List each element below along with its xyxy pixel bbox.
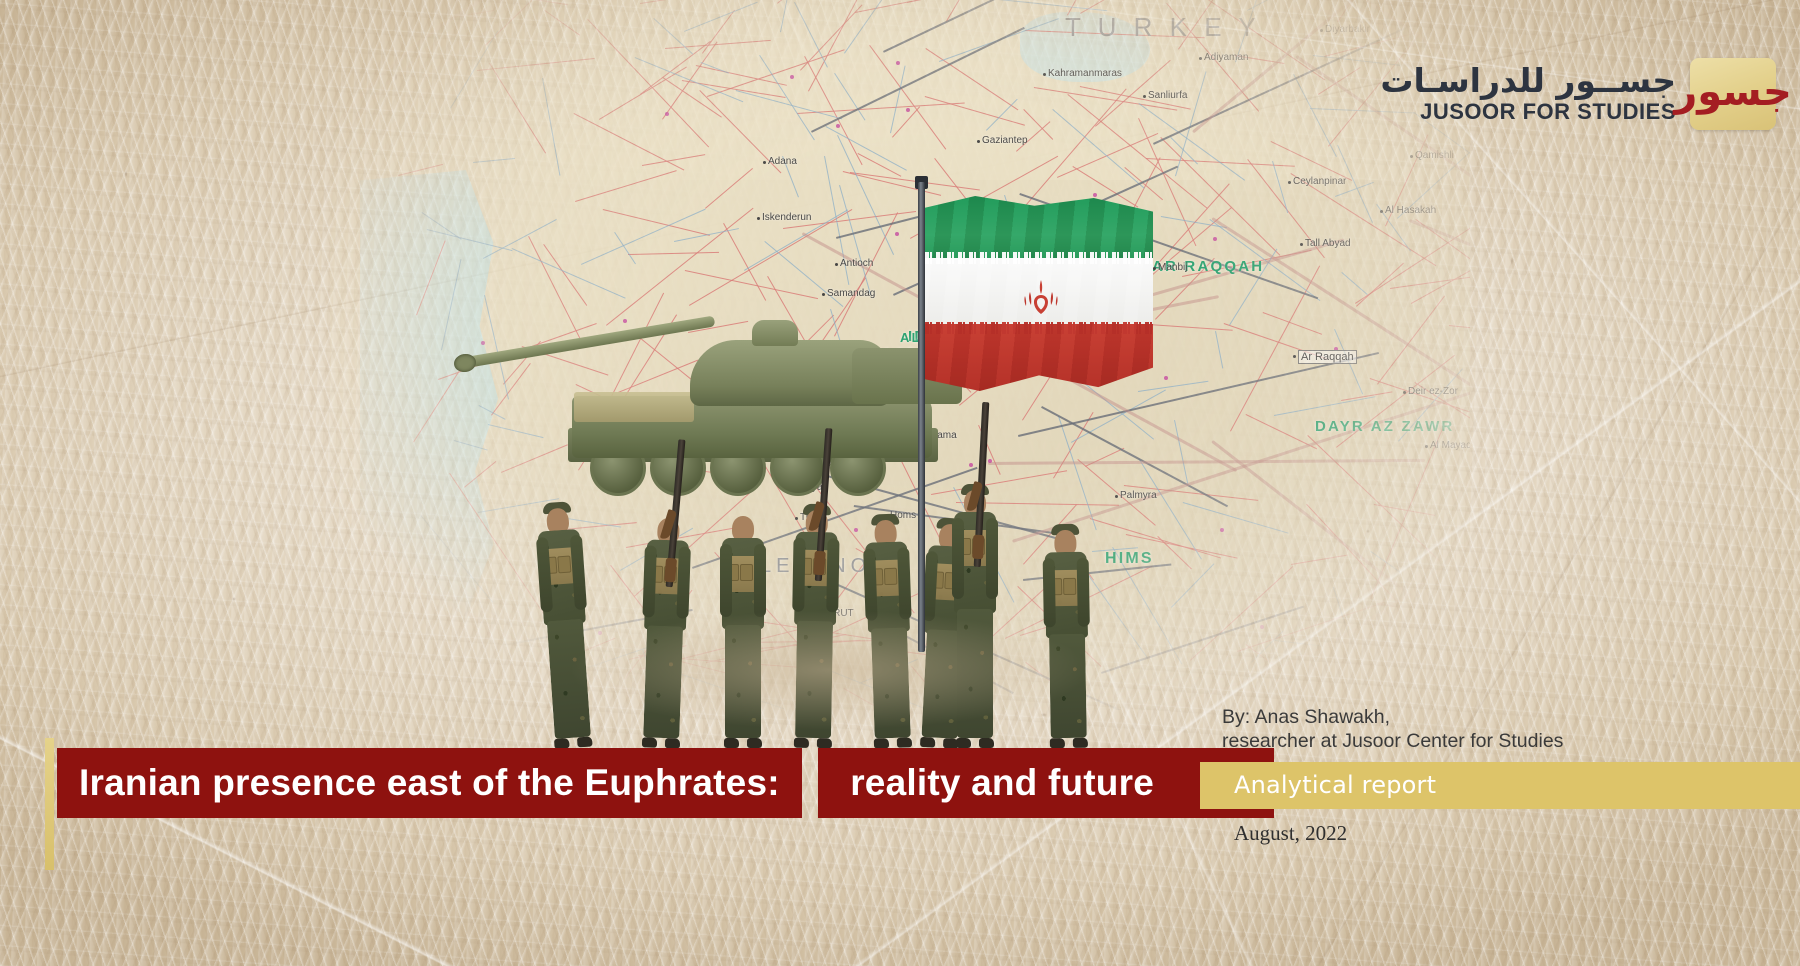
map-city-label: Al Hasakah <box>1385 205 1436 216</box>
map-city-label: Manbij <box>1158 262 1187 273</box>
map-road-segment <box>1274 640 1322 647</box>
jusoor-logo[interactable]: جســور للدراسـات JUSOOR FOR STUDIES جسور <box>1380 58 1776 130</box>
soldier-arm <box>642 545 657 617</box>
map-road-segment <box>1291 554 1347 565</box>
map-city-dot <box>763 161 766 164</box>
map-road-segment <box>1355 217 1487 304</box>
map-city-dot <box>1115 495 1118 498</box>
map-city-dot <box>1043 73 1046 76</box>
flag-wave-shading <box>925 196 1153 391</box>
map-city-label: Iskenderun <box>762 212 811 223</box>
map-road-segment <box>575 170 677 202</box>
map-road-segment <box>1251 630 1284 663</box>
flagpole <box>918 182 925 652</box>
tank-main-gun-barrel <box>459 315 715 368</box>
map-airport-marker <box>1220 528 1224 532</box>
map-airport-marker <box>1164 376 1168 380</box>
author-affiliation: researcher at Jusoor Center for Studies <box>1222 730 1800 754</box>
map-road-segment <box>640 0 742 4</box>
map-road-segment <box>837 135 894 255</box>
map-road-segment <box>1411 0 1462 2</box>
map-city-label: Adana <box>768 156 797 167</box>
map-road-segment <box>416 240 446 316</box>
map-city-label: Samandag <box>827 288 875 299</box>
map-road-segment <box>628 252 719 255</box>
map-city-label: Qamishli <box>1415 150 1454 161</box>
title-block: Iranian presence east of the Euphrates: … <box>45 742 1274 818</box>
map-city-label: Antioch <box>840 258 873 269</box>
map-city-label: Deir ez-Zor <box>1408 386 1458 397</box>
logo-arabic-name: جســور للدراسـات <box>1380 64 1676 99</box>
soldier-arm <box>897 547 912 619</box>
map-road-segment <box>511 248 625 299</box>
map-road-segment <box>705 168 753 209</box>
map-road-segment <box>883 0 1019 53</box>
map-city-dot <box>1300 243 1303 246</box>
map-country-label: T U R K E Y <box>1065 12 1261 43</box>
map-city-dot <box>1320 29 1323 32</box>
map-road-segment <box>1246 644 1302 685</box>
map-road-segment <box>1125 167 1164 200</box>
map-road-segment <box>1324 31 1420 57</box>
map-airport-marker <box>1213 237 1217 241</box>
logo-calligraphy-icon: جسور <box>1674 72 1792 112</box>
map-road-segment <box>1272 161 1288 213</box>
map-road-segment <box>1171 563 1215 608</box>
map-road-segment <box>1307 435 1440 562</box>
soldier-arm <box>952 518 964 599</box>
map-road-segment <box>477 0 567 6</box>
map-road-segment <box>1318 67 1361 95</box>
map-road-segment <box>573 113 684 171</box>
map-city-label: Diyarbakir <box>1325 24 1370 35</box>
soldier-ammo-pouch <box>884 568 898 585</box>
map-road-segment <box>473 158 515 163</box>
map-road-segment <box>1183 502 1289 534</box>
map-city-dot <box>1153 267 1156 270</box>
map-airport-marker <box>790 75 794 79</box>
soldier-arm <box>986 518 998 599</box>
map-road-segment <box>581 208 706 265</box>
map-city-dot <box>1143 95 1146 98</box>
map-city-dot <box>1380 210 1383 213</box>
report-type-badge: Analytical report <box>1200 762 1800 809</box>
soldier-ammo-pouch <box>1063 578 1076 595</box>
map-road-segment <box>1274 396 1375 416</box>
map-airport-marker <box>665 112 669 116</box>
map-road-segment <box>653 18 693 55</box>
map-road-segment <box>1342 272 1369 295</box>
map-road-segment <box>1174 420 1188 484</box>
map-road-segment <box>1138 380 1208 391</box>
map-road-segment <box>489 63 546 154</box>
tank-cupola <box>752 320 798 346</box>
map-city-label: Tall Abyad <box>1305 238 1351 249</box>
map-road-segment <box>839 185 871 295</box>
map-road-segment <box>1408 24 1465 36</box>
report-date: August, 2022 <box>1200 821 1800 846</box>
map-road-segment <box>925 96 1026 126</box>
map-airport-marker <box>896 61 900 65</box>
rifle-stock <box>972 535 984 560</box>
map-city-label: Kahramanmaras <box>1048 68 1122 79</box>
map-road-segment <box>398 164 443 177</box>
map-road-segment <box>663 77 722 118</box>
title-accent-bar <box>45 738 54 870</box>
map-airport-marker <box>836 124 840 128</box>
ground-haze <box>470 610 1190 760</box>
iran-flag <box>925 196 1153 391</box>
map-road-segment <box>736 90 843 120</box>
soldier-arm <box>720 544 732 617</box>
map-road-segment <box>1345 607 1411 680</box>
logo-text-block: جســور للدراسـات JUSOOR FOR STUDIES <box>1380 64 1676 125</box>
map-city-dot <box>757 217 760 220</box>
map-city-dot <box>1403 391 1406 394</box>
map-city-label: Palmyra <box>1120 490 1157 501</box>
map-road-segment <box>1214 331 1222 368</box>
map-city-dot <box>1293 355 1296 358</box>
soldier-arm <box>792 538 805 613</box>
rifle-stock <box>664 557 677 582</box>
map-city-label: Sanliurfa <box>1148 90 1187 101</box>
map-city-dot <box>1410 155 1413 158</box>
map-airport-marker <box>895 232 899 236</box>
soldier-ammo-pouch <box>557 555 571 573</box>
map-airport-marker <box>1419 646 1423 650</box>
map-road-segment <box>542 78 561 175</box>
map-road-segment <box>544 10 580 36</box>
report-meta-block: By: Anas Shawakh, researcher at Jusoor C… <box>1200 706 1800 846</box>
soldier-arm <box>754 544 766 617</box>
map-airport-marker <box>1093 193 1097 197</box>
logo-english-name: JUSOOR FOR STUDIES <box>1380 100 1676 124</box>
author-byline: By: Anas Shawakh, researcher at Jusoor C… <box>1200 706 1800 754</box>
map-road-segment <box>448 10 493 19</box>
soldier-arm <box>826 538 839 613</box>
report-cover: T U R K E YLEBANONMediterraneanSeaHALABA… <box>0 0 1800 966</box>
map-city-dot <box>977 140 980 143</box>
map-airport-marker <box>1260 625 1264 629</box>
map-road-segment <box>1333 587 1358 662</box>
map-airport-marker <box>906 108 910 112</box>
map-city-dot <box>1199 57 1202 60</box>
logo-mark-badge: جسور <box>1690 58 1776 130</box>
map-road-segment <box>780 0 803 32</box>
map-city-label: Ar Raqqah <box>1298 350 1357 364</box>
map-city-label: Adiyaman <box>1204 52 1248 63</box>
map-city-dot <box>835 263 838 266</box>
soldier-ammo-pouch <box>740 564 753 581</box>
author-name: By: Anas Shawakh, <box>1222 706 1800 730</box>
map-city-label: Ceylanpinar <box>1293 176 1346 187</box>
report-title-line-1: Iranian presence east of the Euphrates: <box>57 748 802 818</box>
map-road-segment <box>1247 0 1347 11</box>
map-city-dot <box>1425 445 1428 448</box>
map-city-label: Gaziantep <box>982 135 1028 146</box>
map-road-segment <box>543 244 588 306</box>
map-city-dot <box>822 293 825 296</box>
map-governorate-label: HIMS <box>1105 550 1154 568</box>
soldier-arm <box>676 546 691 618</box>
map-governorate-label: DAYR AZ ZAWR <box>1315 418 1454 435</box>
rifle-stock <box>813 551 826 576</box>
map-city-dot <box>1288 181 1291 184</box>
